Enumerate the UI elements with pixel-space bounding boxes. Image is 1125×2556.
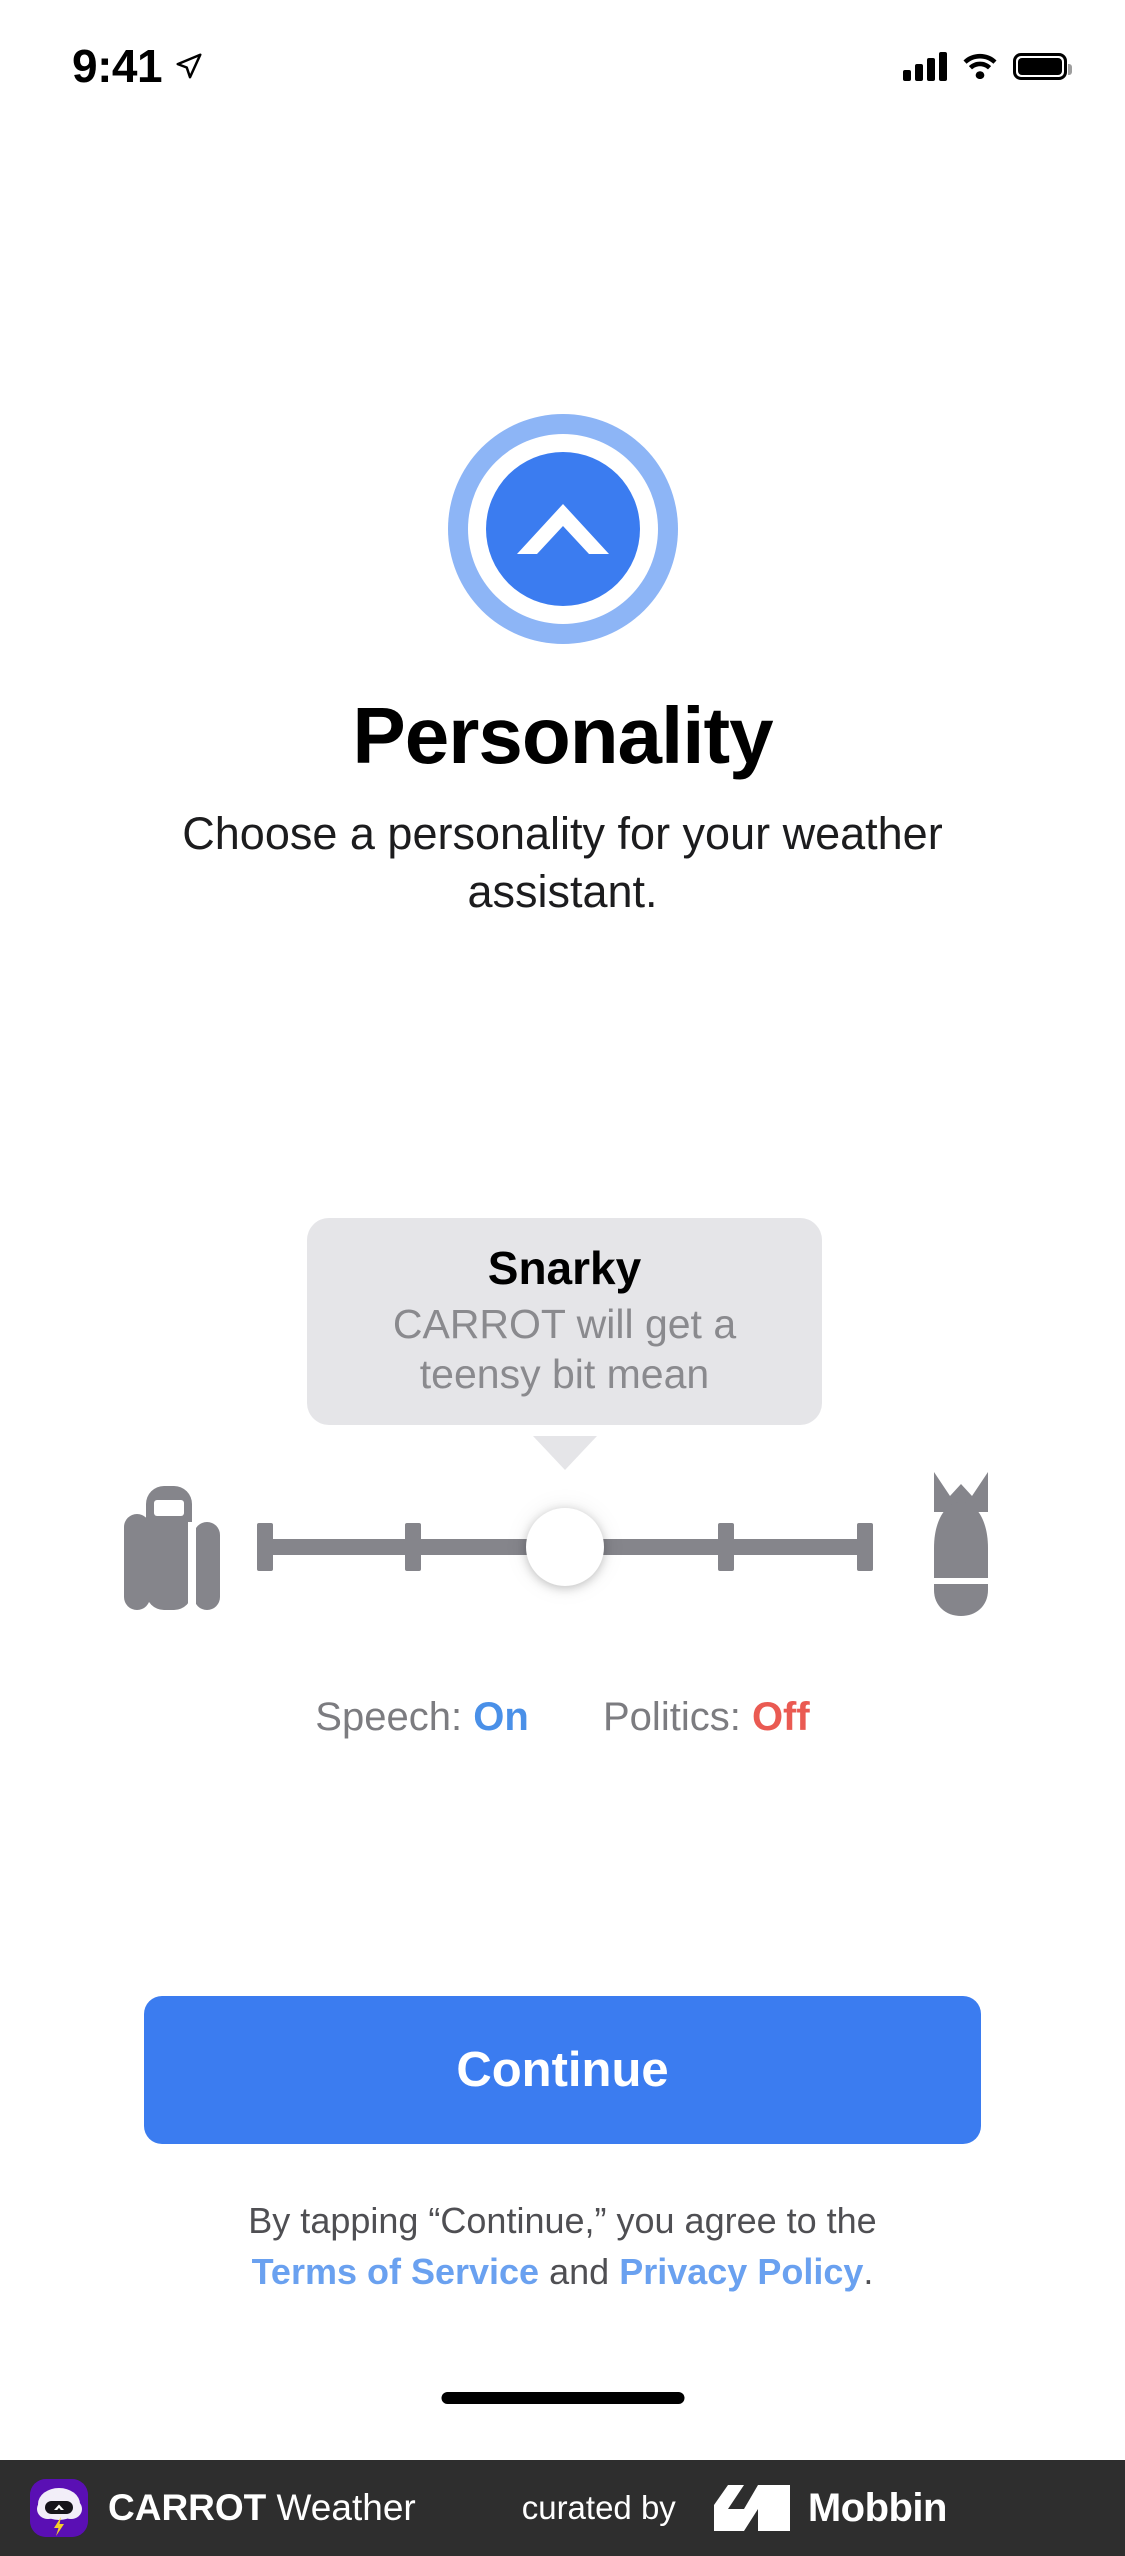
speech-label: Speech: [315, 1695, 462, 1739]
continue-button[interactable]: Continue [144, 1996, 981, 2144]
speech-value[interactable]: On [473, 1695, 529, 1739]
battery-full-icon [1013, 53, 1067, 80]
app-name-bold: CARROT [108, 2487, 266, 2528]
page-subtitle: Choose a personality for your weather as… [0, 805, 1125, 920]
personality-description: CARROT will get a teensy bit mean [333, 1299, 796, 1399]
app-name-thin: Weather [277, 2487, 416, 2528]
personality-tooltip: Snarky CARROT will get a teensy bit mean [307, 1218, 822, 1425]
home-indicator[interactable] [441, 2392, 684, 2404]
cellular-signal-icon [903, 51, 947, 81]
app-identity: CARROT Weather [30, 2479, 416, 2537]
slider-tick-start [257, 1523, 273, 1571]
bomb-icon [918, 1472, 1004, 1616]
brand-bar: CARROT Weather curated by Mobbin [0, 2460, 1125, 2556]
status-bar-left: 9:41 [72, 39, 204, 93]
status-bar-right [903, 51, 1067, 81]
location-arrow-icon [174, 51, 204, 81]
legal-prefix: By tapping “Continue,” you agree to the [248, 2200, 876, 2241]
wifi-icon [962, 52, 998, 80]
briefcase-icon [124, 1478, 220, 1610]
mobbin-logo-icon [714, 2485, 790, 2531]
privacy-policy-link[interactable]: Privacy Policy [619, 2251, 863, 2292]
app-icon-artwork [30, 2479, 88, 2537]
logo-inner-circle [486, 452, 640, 606]
page-title: Personality [0, 690, 1125, 782]
slider-tick-end [857, 1523, 873, 1571]
personality-name: Snarky [333, 1242, 796, 1295]
carrot-weather-app-icon [30, 2479, 88, 2537]
status-bar: 9:41 [0, 0, 1125, 132]
mobbin-attribution[interactable]: Mobbin [714, 2485, 947, 2531]
slider-thumb[interactable] [526, 1508, 604, 1586]
politics-label: Politics: [603, 1695, 741, 1739]
personality-slider[interactable] [0, 1470, 1125, 1630]
tooltip-tail [533, 1436, 597, 1470]
chevron-up-icon [513, 494, 613, 564]
personality-toggles: Speech: On Politics: Off [0, 1695, 1125, 1740]
slider-tick-2 [718, 1523, 734, 1571]
legal-disclaimer: By tapping “Continue,” you agree to the … [0, 2195, 1125, 2297]
terms-of-service-link[interactable]: Terms of Service [252, 2251, 539, 2292]
legal-conjunction: and [549, 2251, 609, 2292]
slider-tick-1 [405, 1523, 421, 1571]
politics-value[interactable]: Off [752, 1695, 810, 1739]
legal-suffix: . [863, 2251, 873, 2292]
curated-by-label: curated by [522, 2489, 676, 2527]
mobbin-name: Mobbin [808, 2486, 947, 2531]
carrot-chevron-logo [448, 414, 678, 644]
app-name: CARROT Weather [108, 2487, 416, 2529]
status-time: 9:41 [72, 39, 162, 93]
